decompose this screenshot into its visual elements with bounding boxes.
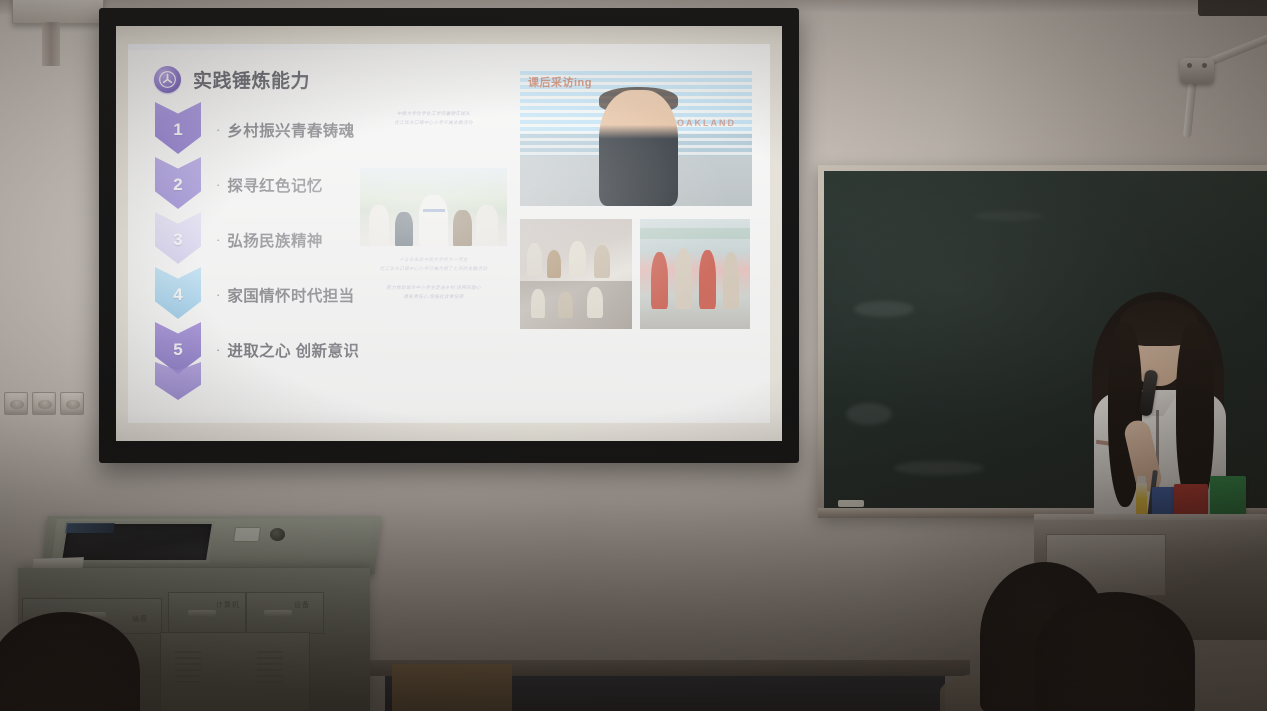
- classroom-activity-photo: [520, 219, 632, 329]
- slide-title: 实践锤炼能力: [193, 66, 310, 93]
- chevron-step-4: 4: [155, 267, 201, 319]
- step-label: 进取之心 创新意识: [227, 339, 359, 361]
- chevron-step-column: 1 2 3 4 5: [155, 102, 201, 377]
- news-headline-block: 中南大学化学化工学院暑期实践队 在江华水口镇中心小学开展支教活动: [362, 110, 505, 127]
- news-caption-4: 激发责任心,增强社会责任感: [362, 293, 505, 302]
- wall-fixture-stem: [42, 22, 60, 66]
- slide-title-row: 实践锤炼能力: [154, 66, 310, 93]
- video-side-text: OAKLAND: [677, 118, 736, 128]
- news-caption-3: 着力帮助城市中小学生走进乡村,培养同理心: [362, 284, 505, 293]
- chevron-number: 1: [173, 120, 182, 140]
- step-label: 家国情怀时代担当: [227, 284, 354, 306]
- news-headline-2: 在江华水口镇中心小学开展支教活动: [362, 119, 505, 128]
- bullet-marker: ·: [216, 123, 220, 136]
- step-label: 乡村振兴青春铸魂: [227, 119, 354, 141]
- bullet-marker: ·: [216, 233, 220, 246]
- news-caption-block: 十五名来自中南大学的大一学生 在江华水口镇中心小学开展为期了七天的支教活动: [362, 256, 505, 273]
- chevron-step-2: 2: [155, 157, 201, 209]
- circular-purple-emblem-icon: [154, 66, 181, 93]
- chevron-step-1: 1: [155, 102, 201, 154]
- bracket-bolt: [1187, 63, 1192, 68]
- presentation-slide: 实践锤炼能力 1 2 3 4: [128, 44, 770, 423]
- chevron-number: 2: [173, 175, 182, 195]
- subject-child: [599, 90, 678, 206]
- bullet-marker: ·: [216, 178, 220, 191]
- chevron-step-3: 3: [155, 212, 201, 264]
- news-headline: 中南大学化学化工学院暑期实践队: [362, 110, 505, 119]
- ceiling-beam: [1198, 0, 1267, 16]
- news-caption-2: 在江华水口镇中心小学开展为期了七天的支教活动: [362, 265, 505, 274]
- news-photo: [360, 168, 507, 246]
- chevron-number: 5: [173, 340, 182, 360]
- interview-video-still: 课后采访ing OAKLAND: [520, 68, 752, 206]
- bullet-marker: ·: [216, 288, 220, 301]
- news-caption: 十五名来自中南大学的大一学生: [362, 256, 505, 265]
- step-label: 探寻红色记忆: [227, 174, 322, 196]
- slide-top-band: [128, 44, 770, 50]
- projector-mount-bracket: [1180, 58, 1214, 84]
- news-caption-block-2: 着力帮助城市中小学生走进乡村,培养同理心 激发责任心,增强社会责任感: [362, 284, 505, 301]
- screen-mat: 实践锤炼能力 1 2 3 4: [116, 26, 782, 441]
- projection-screen-frame: 实践锤炼能力 1 2 3 4: [99, 8, 799, 463]
- step-label: 弘扬民族精神: [227, 229, 322, 251]
- room-shadow: [0, 411, 1267, 711]
- chevron-number: 3: [173, 230, 182, 250]
- wall-mounted-fixture: [12, 0, 104, 24]
- classroom-scene: 实践锤炼能力 1 2 3 4: [0, 0, 1267, 711]
- list-item: · 进取之心 创新意识: [216, 322, 426, 377]
- bracket-bolt: [1202, 63, 1207, 68]
- volunteers-group-photo: [640, 219, 750, 329]
- chevron-number: 4: [173, 285, 182, 305]
- bullet-marker: ·: [216, 343, 220, 356]
- news-article-clipping: 中南大学化学化工学院暑期实践队 在江华水口镇中心小学开展支教活动 十五名来自中南…: [356, 88, 511, 323]
- video-overlay-text: 课后采访ing: [528, 74, 592, 90]
